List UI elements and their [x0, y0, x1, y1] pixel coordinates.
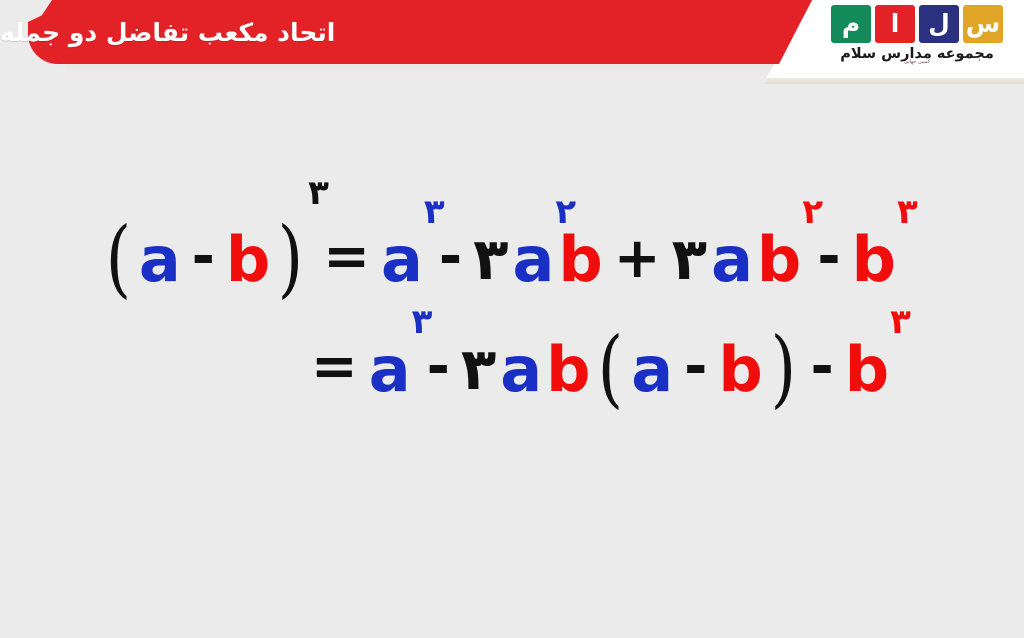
minus-operator-3: - [817, 229, 840, 285]
term-a-1: a [139, 229, 181, 291]
minus-operator-1: - [192, 229, 215, 285]
minus-operator-2: - [439, 229, 462, 285]
plus-operator: + [614, 231, 661, 287]
term-b-5: b [546, 339, 590, 401]
formula-line-2: = a ٣ - ٣ a b ( a - b ) - [0, 320, 1024, 404]
logo-square-group: م ا ل س [831, 5, 1003, 43]
formula-area: (a-b) ٣ = a ٣ - ٣ a ٢ b + [0, 210, 1024, 404]
term-b-6: b [718, 339, 762, 401]
term-a-4: a [711, 229, 753, 291]
minus-operator-6: - [811, 339, 834, 395]
term-a-2: a [381, 229, 423, 291]
group-a-minus-b: (a-b) ٣ [102, 210, 307, 294]
term-b-2: b [558, 229, 602, 291]
left-paren-1: ( [106, 216, 132, 300]
coefficient-3-second: ٣ [672, 230, 707, 288]
term-b-cubed-2: b ٣ [845, 339, 889, 401]
minus-operator-4: - [427, 339, 450, 395]
logo-square-lam: ل [919, 5, 959, 43]
logo-square-mim: م [831, 5, 871, 43]
term-b-1: b [226, 229, 270, 291]
logo-square-alef: ا [875, 5, 915, 43]
formula-line-1: (a-b) ٣ = a ٣ - ٣ a ٢ b + [0, 210, 1024, 294]
left-paren-2: ( [598, 326, 624, 410]
coefficient-3-first: ٣ [473, 230, 508, 288]
term-a-5: a [369, 339, 411, 401]
slide-root: اتحاد مکعب تفاضل دو جمله م ا ل س مجموعه … [0, 0, 1024, 638]
term-b-3: b [757, 229, 801, 291]
term-b-cubed-1: b ٣ [852, 229, 896, 291]
exponent-3-on-b-1: ٣ [897, 195, 918, 229]
exponent-3-outer: ٣ [308, 176, 329, 210]
header-banner: اتحاد مکعب تفاضل دو جمله م ا ل س مجموعه … [0, 0, 1024, 92]
term-b-7: b [845, 339, 889, 401]
logo-square-sin: س [963, 5, 1003, 43]
page-title: اتحاد مکعب تفاضل دو جمله [0, 0, 790, 64]
term-a-3: a [513, 229, 555, 291]
term-b-squared: b ٢ [757, 229, 801, 291]
exponent-2-on-a: ٢ [555, 195, 576, 229]
term-a-cubed-2: a ٣ [369, 339, 411, 401]
right-paren-1: ) [278, 216, 304, 300]
coefficient-3-third: ٣ [461, 340, 496, 398]
term-a-squared: a ٢ [513, 229, 555, 291]
right-paren-2: ) [770, 326, 796, 410]
equals-operator-2: = [311, 339, 358, 395]
term-a-6: a [500, 339, 542, 401]
exponent-3-on-b-2: ٣ [890, 305, 911, 339]
term-b-4: b [852, 229, 896, 291]
equals-operator-1: = [323, 229, 370, 285]
term-a-cubed-1: a ٣ [381, 229, 423, 291]
term-a-7: a [631, 339, 673, 401]
logo-subcaption: کمپین جهانی [904, 59, 930, 65]
minus-operator-5: - [684, 339, 707, 395]
brand-logo[interactable]: م ا ل س مجموعه مدارس سلام کمپین جهانی [824, 5, 1010, 65]
